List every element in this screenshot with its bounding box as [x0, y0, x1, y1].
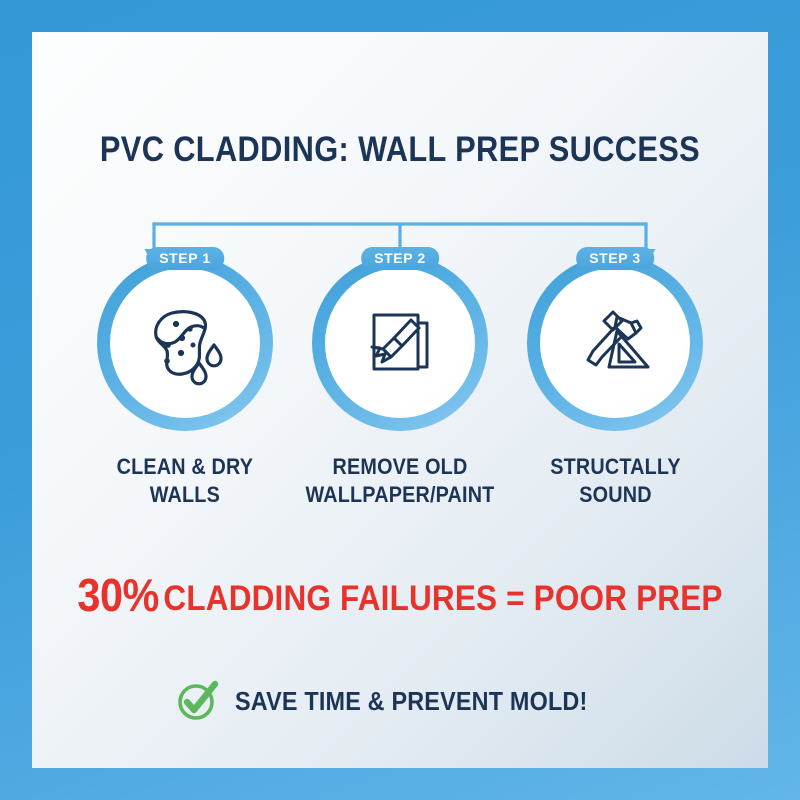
step-badge-1: STEP 1 [146, 247, 224, 270]
steps-row: STEP 1 CLEAN & DRY WALLS [32, 255, 768, 508]
step-item-3[interactable]: STEP 3 STRUCTALLY SOUND [508, 255, 723, 508]
step-item-2[interactable]: STEP 2 REMOVE OLD WALLPAPER/PAINT [293, 255, 508, 508]
step-badge-2: STEP 2 [361, 247, 439, 270]
step-disc-3 [540, 268, 690, 418]
step-disc-1 [110, 268, 260, 418]
step-circle-1: STEP 1 [97, 255, 273, 431]
step-item-1[interactable]: STEP 1 CLEAN & DRY WALLS [78, 255, 293, 508]
step-label-2: REMOVE OLD WALLPAPER/PAINT [306, 453, 495, 508]
paint-scraper-wallpaper-icon [358, 301, 442, 385]
statistic-line: 30%CLADDING FAILURES = POOR PREP [69, 568, 731, 622]
poster-panel: PVC CLADDING: WALL PREP SUCCESS [32, 32, 768, 768]
step-badge-3: STEP 3 [576, 247, 654, 270]
sponge-with-water-drops-icon [142, 300, 228, 386]
step-disc-2 [325, 268, 475, 418]
page-title: PVC CLADDING: WALL PREP SUCCESS [76, 130, 724, 170]
infographic-poster: PVC CLADDING: WALL PREP SUCCESS [0, 0, 800, 800]
step-label-1: CLEAN & DRY WALLS [117, 453, 254, 508]
footer-callout: SAVE TIME & PREVENT MOLD! [32, 677, 768, 725]
footer-text: SAVE TIME & PREVENT MOLD! [235, 686, 587, 717]
statistic-number: 30% [77, 569, 159, 621]
green-check-circle-icon [173, 677, 221, 725]
hammer-and-set-square-icon [573, 301, 657, 385]
step-circle-2: STEP 2 [312, 255, 488, 431]
step-circle-3: STEP 3 [527, 255, 703, 431]
step-label-3: STRUCTALLY SOUND [550, 453, 681, 508]
statistic-text: CLADDING FAILURES = POOR PREP [163, 579, 722, 618]
